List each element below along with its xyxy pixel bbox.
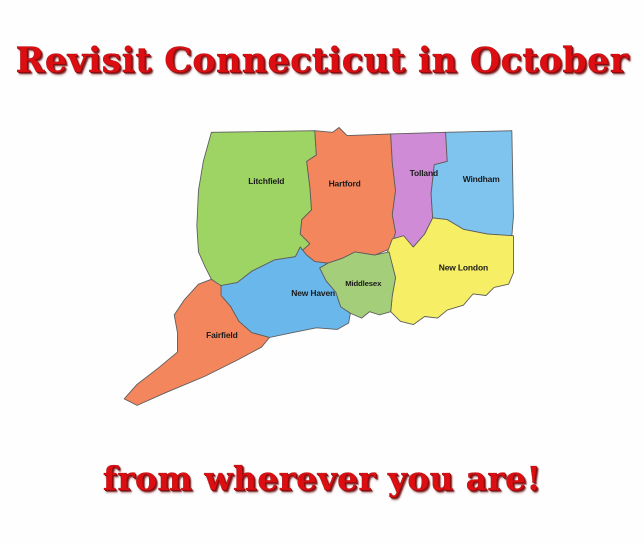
poster-canvas: Revisit Connecticut in October Litchfiel… (0, 0, 644, 544)
county-label-hartford: Hartford (329, 178, 361, 188)
footer-text: from wherever you are! (0, 459, 644, 499)
map-svg: Litchfield Hartford Tolland Windham New … (108, 112, 528, 437)
county-label-litchfield: Litchfield (248, 176, 284, 186)
connecticut-county-map: Litchfield Hartford Tolland Windham New … (108, 112, 528, 437)
headline-text: Revisit Connecticut in October (0, 40, 644, 82)
county-label-new-haven: New Haven (291, 288, 335, 298)
county-label-fairfield: Fairfield (206, 330, 238, 340)
county-label-windham: Windham (463, 174, 500, 184)
county-label-middlesex: Middlesex (345, 279, 382, 288)
county-label-new-london: New London (439, 262, 488, 272)
county-label-tolland: Tolland (410, 168, 438, 178)
